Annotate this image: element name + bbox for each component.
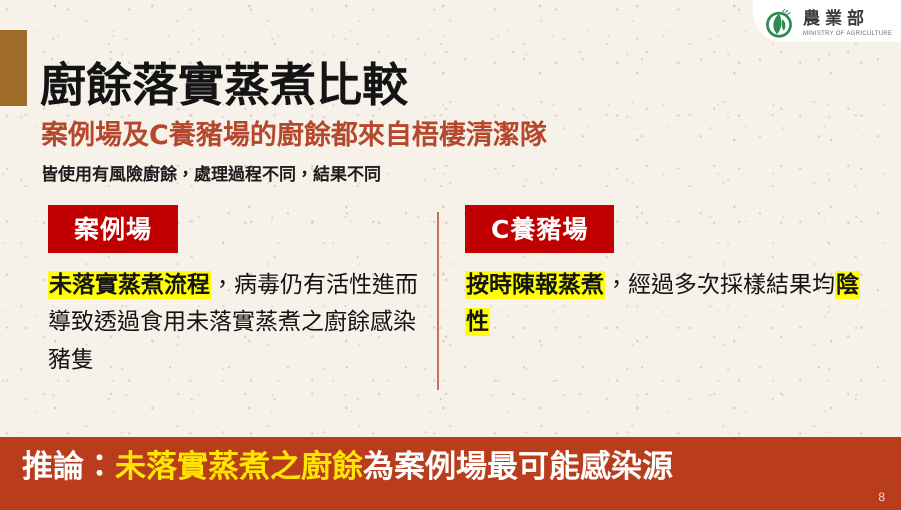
c-farm-body-middle: ，經過多次採樣結果均	[605, 272, 835, 298]
ministry-logo: 農業部 MINISTRY OF AGRICULTURE	[762, 4, 901, 44]
column-divider	[437, 212, 439, 390]
comparison-column-c-farm: C養豬場 按時陳報蒸煮，經過多次採樣結果均陰性	[465, 205, 865, 342]
page-title: 廚餘落實蒸煮比較	[40, 57, 408, 115]
column-body-c-farm: 按時陳報蒸煮，經過多次採樣結果均陰性	[465, 267, 865, 342]
column-header-case-farm: 案例場	[48, 205, 178, 253]
ministry-name-cn: 農業部	[803, 11, 892, 28]
column-header-c-farm: C養豬場	[465, 205, 614, 253]
ministry-logo-text: 農業部 MINISTRY OF AGRICULTURE	[803, 11, 892, 37]
title-accent-bar	[0, 30, 27, 106]
page-subtitle: 案例場及C養豬場的廚餘都來自梧棲清潔隊	[41, 113, 547, 152]
comparison-section: 案例場 未落實蒸煮流程，病毒仍有活性進而導致透過食用未落實蒸煮之廚餘感染豬隻 C…	[0, 205, 901, 400]
case-farm-highlight: 未落實蒸煮流程	[48, 271, 211, 299]
comparison-column-case-farm: 案例場 未落實蒸煮流程，病毒仍有活性進而導致透過食用未落實蒸煮之廚餘感染豬隻	[48, 205, 423, 379]
c-farm-highlight-1: 按時陳報蒸煮	[465, 271, 605, 299]
conclusion-emphasis: 未落實蒸煮之廚餘	[115, 449, 363, 485]
conclusion-rest: 為案例場最可能感染源	[363, 449, 673, 485]
slide-root: 農業部 MINISTRY OF AGRICULTURE 廚餘落實蒸煮比較 案例場…	[0, 0, 901, 510]
column-body-case-farm: 未落實蒸煮流程，病毒仍有活性進而導致透過食用未落實蒸煮之廚餘感染豬隻	[48, 267, 423, 379]
ministry-of-agriculture-emblem-icon	[762, 7, 796, 41]
conclusion-banner: 推論：未落實蒸煮之廚餘為案例場最可能感染源 8	[0, 437, 901, 510]
conclusion-label: 推論：	[22, 449, 115, 485]
conclusion-text: 推論：未落實蒸煮之廚餘為案例場最可能感染源	[0, 452, 673, 483]
page-number: 8	[878, 490, 885, 504]
page-subnote: 皆使用有風險廚餘，處理過程不同，結果不同	[41, 160, 381, 185]
ministry-name-en: MINISTRY OF AGRICULTURE	[803, 31, 892, 37]
